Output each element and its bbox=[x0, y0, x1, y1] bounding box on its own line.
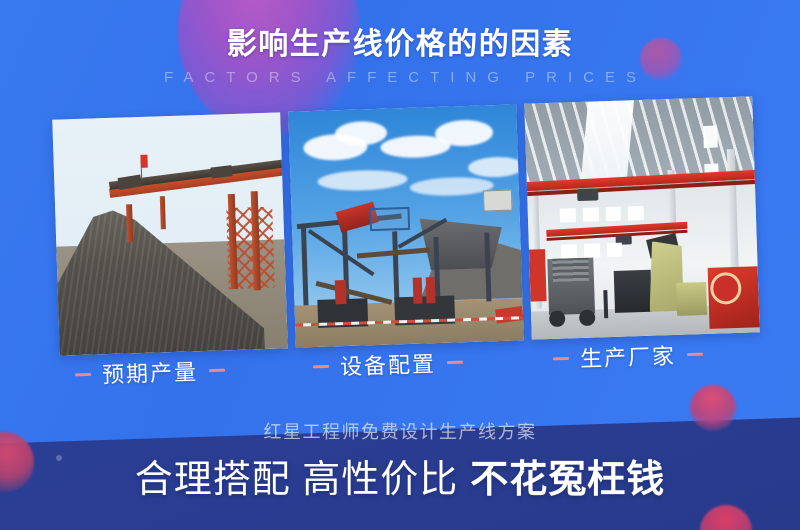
yellow-machine bbox=[676, 282, 707, 316]
machine-grille bbox=[552, 257, 589, 282]
scene-stockpile bbox=[52, 112, 287, 355]
window bbox=[703, 126, 717, 148]
dash-icon bbox=[75, 372, 91, 376]
dash-icon bbox=[447, 360, 463, 364]
caption-text: 生产厂家 bbox=[580, 338, 677, 373]
red-support bbox=[335, 280, 347, 304]
red-support bbox=[412, 277, 422, 303]
window bbox=[628, 206, 644, 221]
red-machine bbox=[529, 249, 547, 301]
worker bbox=[603, 290, 608, 318]
window bbox=[560, 208, 576, 223]
access-platform bbox=[369, 207, 410, 231]
panel-caption-equipment-configuration: 设备配置 bbox=[313, 346, 464, 383]
roof-trusses bbox=[524, 96, 754, 181]
control-box bbox=[482, 190, 512, 212]
dash-icon bbox=[687, 352, 703, 356]
caption-text: 设备配置 bbox=[340, 346, 437, 381]
window bbox=[584, 243, 600, 258]
dash-icon bbox=[313, 364, 329, 368]
skylight bbox=[581, 100, 634, 180]
header: 影响生产线价格的的因素 FACTORS AFFECTING PRICES bbox=[0, 0, 800, 86]
footer: 红星工程师免费设计生产线方案 合理搭配 高性价比不花冤枉钱 bbox=[0, 418, 800, 502]
photo-panel-expected-output[interactable] bbox=[52, 112, 287, 355]
dark-machine bbox=[614, 270, 652, 314]
support-leg bbox=[160, 196, 166, 229]
window bbox=[605, 207, 621, 222]
promo-banner: 影响生产线价格的的因素 FACTORS AFFECTING PRICES bbox=[0, 0, 800, 530]
panel-caption-expected-output: 预期产量 bbox=[75, 354, 226, 391]
dash-icon bbox=[209, 368, 225, 372]
dash-icon bbox=[553, 356, 569, 360]
support-leg bbox=[126, 205, 133, 243]
red-flag bbox=[140, 154, 147, 167]
footer-subtitle: 红星工程师免费设计生产线方案 bbox=[0, 418, 800, 444]
window bbox=[561, 244, 577, 259]
footer-headline-light: 合理搭配 高性价比 bbox=[135, 459, 459, 501]
scene-factory-interior bbox=[524, 96, 760, 339]
crane-hoist bbox=[577, 189, 598, 201]
window bbox=[582, 208, 598, 223]
photo-panel-manufacturer[interactable] bbox=[524, 96, 760, 339]
footer-headline: 合理搭配 高性价比不花冤枉钱 bbox=[0, 460, 800, 502]
red-support bbox=[426, 277, 436, 303]
scene-crushing-plant bbox=[288, 104, 523, 347]
photo-panel-equipment-configuration[interactable] bbox=[288, 104, 523, 347]
footer-headline-bold: 不花冤枉钱 bbox=[470, 459, 665, 501]
page-title: 影响生产线价格的的因素 bbox=[0, 0, 800, 63]
panel-caption-manufacturer: 生产厂家 bbox=[553, 338, 704, 375]
window bbox=[606, 242, 622, 257]
caption-text: 预期产量 bbox=[102, 354, 199, 389]
page-subtitle: FACTORS AFFECTING PRICES bbox=[0, 69, 800, 86]
